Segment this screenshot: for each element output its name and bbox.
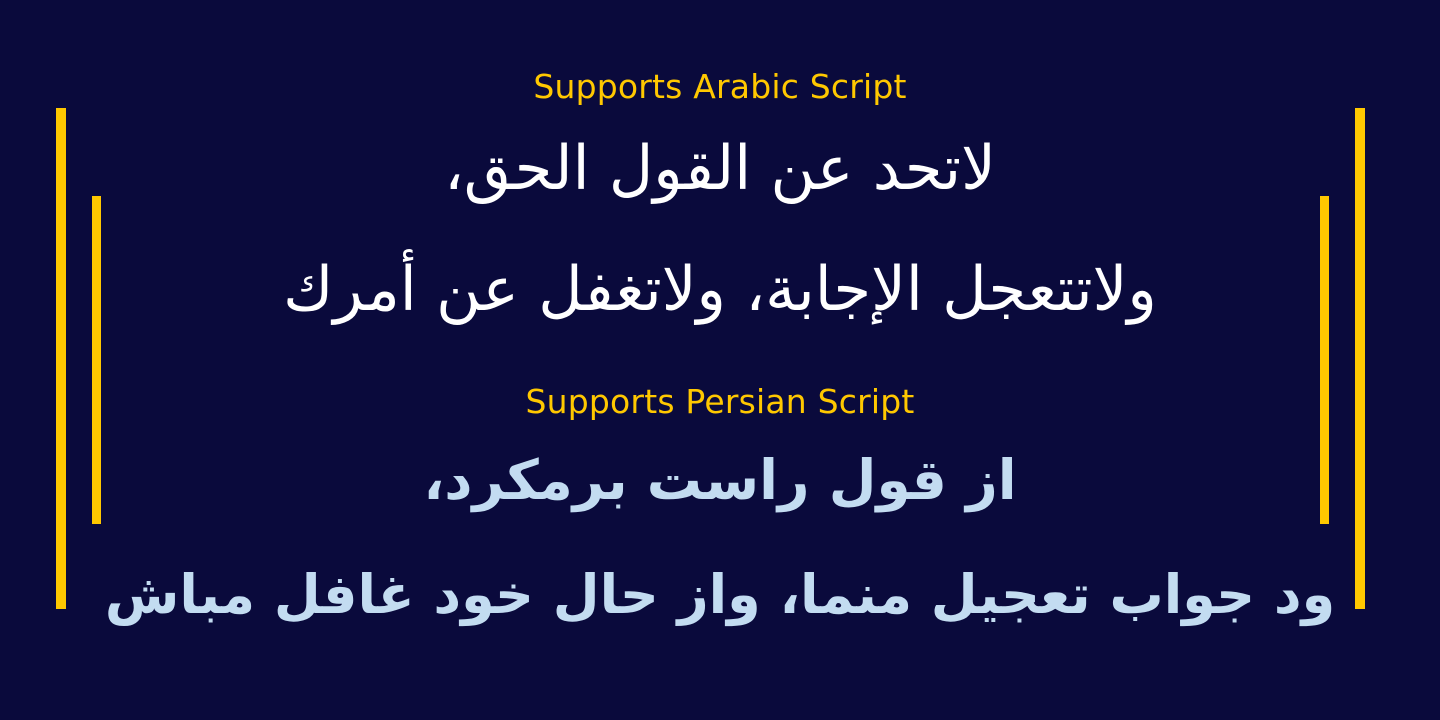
persian-section-label-row: Supports Persian Script [0, 385, 1440, 418]
arabic-sample-line-2-row: ولاتتعجل الإجابة، ولاتغفل عن أمرك [0, 258, 1440, 322]
arabic-sample-line-2: ولاتتعجل الإجابة، ولاتغفل عن أمرك [0, 258, 1440, 322]
persian-sample-line-2: ود جواب تعجیل منما، واز حال خود غافل مبا… [0, 567, 1440, 624]
arabic-section-label: Supports Arabic Script [0, 70, 1440, 103]
arabic-section-label-row: Supports Arabic Script [0, 70, 1440, 103]
specimen-content: Supports Arabic Script لاتحد عن القول ال… [0, 0, 1440, 720]
persian-section-label: Supports Persian Script [0, 385, 1440, 418]
font-specimen-poster: Supports Arabic Script لاتحد عن القول ال… [0, 0, 1440, 720]
arabic-sample-line-1-row: لاتحد عن القول الحق، [0, 137, 1440, 201]
persian-sample-line-1-row: از قول راست برمکرد، [0, 452, 1440, 510]
persian-sample-line-1: از قول راست برمکرد، [0, 452, 1440, 510]
arabic-sample-line-1: لاتحد عن القول الحق، [0, 137, 1440, 201]
persian-sample-line-2-row: ود جواب تعجیل منما، واز حال خود غافل مبا… [0, 567, 1440, 624]
